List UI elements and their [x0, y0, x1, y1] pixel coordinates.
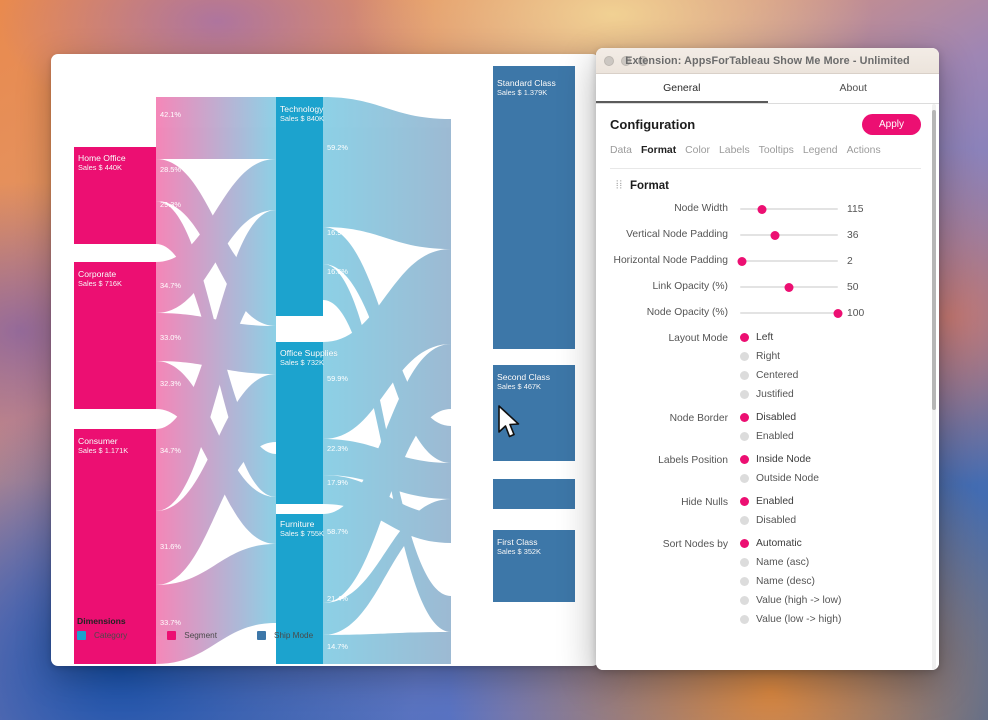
radio-layout-left[interactable]: Left	[740, 332, 798, 343]
radio-labels-outside-node[interactable]: Outside Node	[740, 473, 819, 484]
sankey-nodes-category	[276, 97, 323, 664]
divider	[610, 168, 921, 169]
slider-knob[interactable]	[737, 257, 746, 266]
radio-sort-name-asc[interactable]: Name (asc)	[740, 557, 841, 568]
radio-labels-inside-node[interactable]: Inside Node	[740, 454, 819, 465]
radio-dot-icon	[740, 577, 749, 586]
sankey-links-stage-2	[323, 97, 451, 664]
slider-track	[740, 234, 838, 236]
setting-label: Node Width	[610, 202, 740, 216]
vertical-node-padding-slider[interactable]	[740, 228, 838, 242]
setting-link-opacity: Link Opacity (%) 50	[610, 280, 921, 294]
setting-label: Node Border	[610, 412, 740, 426]
radio-layout-justified[interactable]: Justified	[740, 389, 798, 400]
slider-track	[740, 312, 838, 314]
sankey-diagram	[51, 54, 599, 666]
legend-swatch-icon	[167, 631, 176, 640]
radio-layout-centered[interactable]: Centered	[740, 370, 798, 381]
radio-hide-nulls-enabled[interactable]: Enabled	[740, 496, 796, 507]
setting-label: Hide Nulls	[610, 496, 740, 510]
subtab-data[interactable]: Data	[610, 145, 632, 156]
setting-horizontal-node-padding: Horizontal Node Padding 2	[610, 254, 921, 268]
radio-dot-icon	[740, 371, 749, 380]
slider-knob[interactable]	[757, 205, 766, 214]
legend: Dimensions Category Segment Ship Mode	[77, 616, 353, 640]
slider-track	[740, 208, 838, 210]
radio-sort-value-low-high[interactable]: Value (low -> high)	[740, 614, 841, 625]
radio-sort-value-high-low[interactable]: Value (high -> low)	[740, 595, 841, 606]
node-width-slider[interactable]	[740, 202, 838, 216]
radio-dot-icon	[740, 333, 749, 342]
slider-knob[interactable]	[834, 309, 843, 318]
configuration-heading: Configuration	[610, 117, 695, 132]
configuration-panel: Configuration Apply Data Format Color La…	[596, 104, 939, 670]
subtab-actions[interactable]: Actions	[847, 145, 881, 156]
setting-vertical-node-padding: Vertical Node Padding 36	[610, 228, 921, 242]
setting-label: Link Opacity (%)	[610, 280, 740, 294]
legend-item-category[interactable]: Category	[77, 631, 127, 640]
legend-swatch-icon	[257, 631, 266, 640]
sankey-nodes-segment	[74, 147, 156, 664]
format-section-header: ⦙⦙ Format	[616, 179, 921, 192]
setting-node-width: Node Width 115	[610, 202, 921, 216]
setting-value: 50	[847, 282, 858, 293]
extension-tabs: General About	[596, 74, 939, 104]
legend-title: Dimensions	[77, 616, 353, 626]
legend-item-segment[interactable]: Segment	[167, 631, 217, 640]
radio-sort-name-desc[interactable]: Name (desc)	[740, 576, 841, 587]
radio-dot-icon	[740, 558, 749, 567]
setting-label: Horizontal Node Padding	[610, 254, 740, 268]
format-section-title: Format	[630, 180, 669, 192]
setting-label: Vertical Node Padding	[610, 228, 740, 242]
radio-dot-icon	[740, 352, 749, 361]
setting-node-border: Node Border Disabled Enabled	[610, 412, 921, 442]
setting-value: 2	[847, 256, 853, 267]
subtab-format[interactable]: Format	[641, 145, 676, 156]
radio-layout-right[interactable]: Right	[740, 351, 798, 362]
setting-hide-nulls: Hide Nulls Enabled Disabled	[610, 496, 921, 526]
configuration-subtabs: Data Format Color Labels Tooltips Legend…	[610, 145, 921, 156]
radio-dot-icon	[740, 413, 749, 422]
tab-general[interactable]: General	[596, 74, 768, 103]
setting-value: 100	[847, 308, 864, 319]
legend-item-label: Segment	[184, 631, 217, 640]
radio-dot-icon	[740, 432, 749, 441]
scrollbar-thumb[interactable]	[932, 110, 936, 410]
setting-value: 115	[847, 204, 863, 215]
subtab-tooltips[interactable]: Tooltips	[759, 145, 794, 156]
node-opacity-slider[interactable]	[740, 306, 838, 320]
legend-item-label: Ship Mode	[274, 631, 313, 640]
radio-dot-icon	[740, 615, 749, 624]
setting-node-opacity: Node Opacity (%) 100	[610, 306, 921, 320]
radio-node-border-disabled[interactable]: Disabled	[740, 412, 796, 423]
radio-dot-icon	[740, 390, 749, 399]
tab-about[interactable]: About	[768, 74, 940, 103]
extension-titlebar: Extension: AppsForTableau Show Me More -…	[596, 48, 939, 74]
slider-knob[interactable]	[785, 283, 794, 292]
subtab-legend[interactable]: Legend	[803, 145, 838, 156]
subtab-labels[interactable]: Labels	[719, 145, 750, 156]
extension-body: Configuration Apply Data Format Color La…	[596, 104, 939, 670]
radio-hide-nulls-disabled[interactable]: Disabled	[740, 515, 796, 526]
radio-dot-icon	[740, 474, 749, 483]
setting-label: Node Opacity (%)	[610, 306, 740, 320]
radio-sort-automatic[interactable]: Automatic	[740, 538, 841, 549]
radio-dot-icon	[740, 455, 749, 464]
radio-dot-icon	[740, 539, 749, 548]
setting-layout-mode: Layout Mode Left Right	[610, 332, 921, 400]
slider-knob[interactable]	[771, 231, 780, 240]
setting-label: Sort Nodes by	[610, 538, 740, 552]
radio-node-border-enabled[interactable]: Enabled	[740, 431, 796, 442]
horizontal-node-padding-slider[interactable]	[740, 254, 838, 268]
slider-track	[740, 260, 838, 262]
tableau-viz-window: Home Office Sales $ 440K Corporate Sales…	[51, 54, 599, 666]
drag-handle-icon[interactable]: ⦙⦙	[616, 179, 623, 192]
legend-item-ship-mode[interactable]: Ship Mode	[257, 631, 313, 640]
radio-dot-icon	[740, 516, 749, 525]
setting-label: Labels Position	[610, 454, 740, 468]
setting-sort-nodes-by: Sort Nodes by Automatic Name (asc)	[610, 538, 921, 625]
extension-window-title: Extension: AppsForTableau Show Me More -…	[596, 55, 939, 67]
radio-dot-icon	[740, 596, 749, 605]
subtab-color[interactable]: Color	[685, 145, 710, 156]
setting-label: Layout Mode	[610, 332, 740, 346]
extension-window: Extension: AppsForTableau Show Me More -…	[596, 48, 939, 670]
setting-labels-position: Labels Position Inside Node Outside Node	[610, 454, 921, 484]
radio-dot-icon	[740, 497, 749, 506]
sankey-links-stage-1	[156, 97, 276, 664]
sankey-nodes-shipmode	[493, 66, 575, 602]
setting-value: 36	[847, 230, 858, 241]
apply-button[interactable]: Apply	[862, 114, 921, 135]
desktop-background: Home Office Sales $ 440K Corporate Sales…	[0, 0, 988, 720]
link-opacity-slider[interactable]	[740, 280, 838, 294]
legend-swatch-icon	[77, 631, 86, 640]
legend-item-label: Category	[94, 631, 127, 640]
